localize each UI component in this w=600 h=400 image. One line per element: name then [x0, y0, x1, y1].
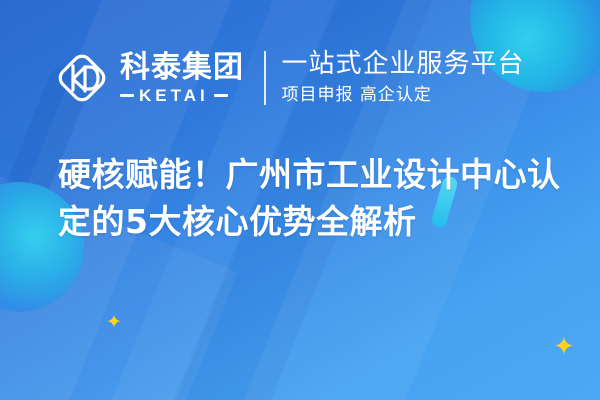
banner-header: 科泰集团 KETAI 一站式企业服务平台 项目申报 高企认定: [0, 38, 600, 118]
logo-company-name-en: KETAI: [139, 87, 209, 104]
logo-company-name-cn: 科泰集团: [120, 52, 244, 84]
logo-dash-right-icon: [214, 94, 228, 97]
kd-monogram-icon: [54, 50, 110, 106]
sparkle-star-icon: ✦: [553, 333, 575, 359]
sparkle-star-icon: ✦: [106, 313, 122, 332]
slogan-primary: 一站式企业服务平台: [282, 50, 525, 80]
logo-wordmark: 科泰集团 KETAI: [120, 52, 244, 104]
vertical-divider: [264, 51, 266, 105]
slogan-block: 一站式企业服务平台 项目申报 高企认定: [282, 50, 525, 105]
logo-dash-left-icon: [120, 94, 134, 97]
headline-title: 硬核赋能！广州市工业设计中心认定的5大核心优势全解析: [58, 152, 568, 246]
slogan-secondary: 项目申报 高企认定: [282, 85, 525, 105]
logo-english-row: KETAI: [120, 87, 244, 104]
promo-banner: ✦ ✦ 科泰集团 KETAI: [0, 0, 600, 400]
